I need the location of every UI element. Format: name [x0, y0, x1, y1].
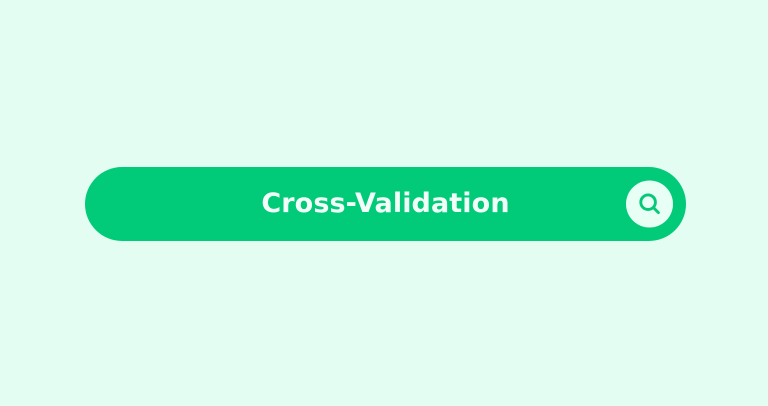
search-icon: [635, 189, 665, 219]
search-bar[interactable]: Cross-Validation: [85, 167, 686, 241]
page-canvas: Cross-Validation: [0, 0, 768, 406]
search-button[interactable]: [626, 181, 673, 228]
search-input[interactable]: Cross-Validation: [261, 190, 509, 219]
